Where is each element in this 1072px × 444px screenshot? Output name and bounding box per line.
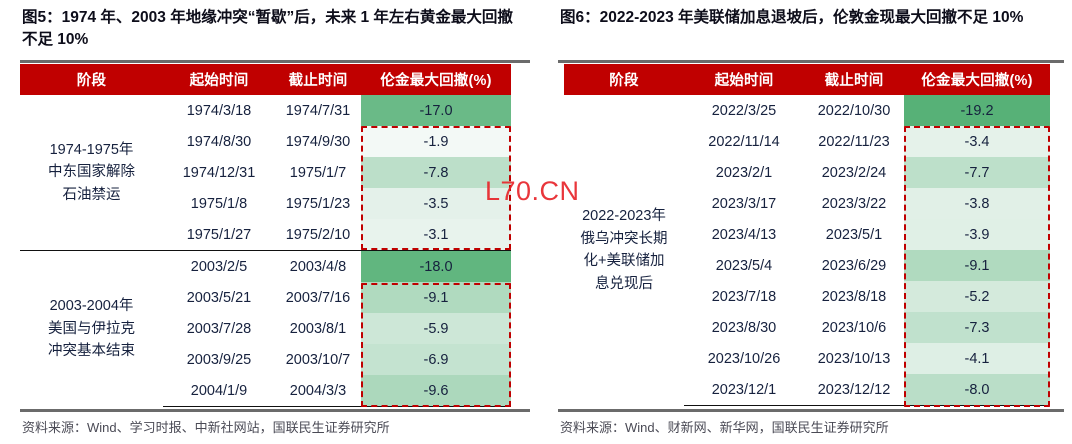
right-footer-rule <box>558 409 1064 412</box>
column-header-0: 阶段 <box>20 64 163 95</box>
drawdown-cell: -7.3 <box>904 312 1050 343</box>
left-footer-rule <box>20 409 530 412</box>
end-date-cell: 2003/10/7 <box>275 344 361 375</box>
stage-label: 1974-1975年中东国家解除石油禁运 <box>20 95 163 251</box>
right-source-note: 资料来源：Wind、财新网、新华网，国联民生证券研究所 <box>560 417 889 436</box>
start-date-cell: 1975/1/27 <box>163 219 275 251</box>
drawdown-cell: -19.2 <box>904 95 1050 126</box>
drawdown-cell: -7.7 <box>904 157 1050 188</box>
start-date-cell: 1975/1/8 <box>163 188 275 219</box>
end-date-cell: 2023/12/12 <box>804 374 904 406</box>
drawdown-cell: -18.0 <box>361 251 511 283</box>
end-date-cell: 2022/11/23 <box>804 126 904 157</box>
left-figure-panel: 图5：1974 年、2003 年地缘冲突“暂歇”后，未来 1 年左右黄金最大回撤… <box>0 0 536 444</box>
start-date-cell: 2023/2/1 <box>684 157 804 188</box>
column-header-3: 伦金最大回撤(%) <box>904 64 1050 95</box>
end-date-cell: 1975/1/7 <box>275 157 361 188</box>
left-figure-title: 图5：1974 年、2003 年地缘冲突“暂歇”后，未来 1 年左右黄金最大回撤… <box>22 7 522 52</box>
column-header-0: 阶段 <box>564 64 684 95</box>
table-header-row: 阶段起始时间截止时间伦金最大回撤(%) <box>20 64 511 95</box>
drawdown-cell: -3.9 <box>904 219 1050 250</box>
stage-label: 2022-2023年俄乌冲突长期化+美联储加息兑现后 <box>564 95 684 406</box>
drawdown-cell: -8.0 <box>904 374 1050 406</box>
end-date-cell: 1974/9/30 <box>275 126 361 157</box>
drawdown-cell: -5.9 <box>361 313 511 344</box>
end-date-cell: 2023/10/6 <box>804 312 904 343</box>
start-date-cell: 1974/3/18 <box>163 95 275 126</box>
start-date-cell: 2023/3/17 <box>684 188 804 219</box>
end-date-cell: 2023/10/13 <box>804 343 904 374</box>
end-date-cell: 1975/2/10 <box>275 219 361 251</box>
figure-pair-page: 图5：1974 年、2003 年地缘冲突“暂歇”后，未来 1 年左右黄金最大回撤… <box>0 0 1072 444</box>
start-date-cell: 2003/9/25 <box>163 344 275 375</box>
table-row: 2022-2023年俄乌冲突长期化+美联储加息兑现后2022/3/252022/… <box>564 95 1050 126</box>
right-drawdown-table: 阶段起始时间截止时间伦金最大回撤(%)2022-2023年俄乌冲突长期化+美联储… <box>564 64 1050 406</box>
start-date-cell: 2004/1/9 <box>163 375 275 407</box>
drawdown-cell: -6.9 <box>361 344 511 375</box>
drawdown-cell: -17.0 <box>361 95 511 126</box>
drawdown-cell: -3.8 <box>904 188 1050 219</box>
end-date-cell: 2023/8/18 <box>804 281 904 312</box>
column-header-2: 截止时间 <box>804 64 904 95</box>
column-header-3: 伦金最大回撤(%) <box>361 64 511 95</box>
start-date-cell: 2003/5/21 <box>163 282 275 313</box>
column-header-1: 起始时间 <box>684 64 804 95</box>
column-header-1: 起始时间 <box>163 64 275 95</box>
end-date-cell: 1975/1/23 <box>275 188 361 219</box>
start-date-cell: 2023/12/1 <box>684 374 804 406</box>
start-date-cell: 2023/8/30 <box>684 312 804 343</box>
end-date-cell: 2023/5/1 <box>804 219 904 250</box>
right-title-rule <box>558 60 1064 63</box>
end-date-cell: 2022/10/30 <box>804 95 904 126</box>
start-date-cell: 2003/2/5 <box>163 251 275 283</box>
drawdown-cell: -3.4 <box>904 126 1050 157</box>
right-figure-title: 图6：2022-2023 年美联储加息退坡后，伦敦金现最大回撤不足 10% <box>560 7 1060 29</box>
start-date-cell: 1974/8/30 <box>163 126 275 157</box>
column-header-2: 截止时间 <box>275 64 361 95</box>
right-figure-panel: 图6：2022-2023 年美联储加息退坡后，伦敦金现最大回撤不足 10% 阶段… <box>536 0 1072 444</box>
end-date-cell: 2003/7/16 <box>275 282 361 313</box>
drawdown-cell: -5.2 <box>904 281 1050 312</box>
table-header-row: 阶段起始时间截止时间伦金最大回撤(%) <box>564 64 1050 95</box>
end-date-cell: 2003/8/1 <box>275 313 361 344</box>
drawdown-cell: -4.1 <box>904 343 1050 374</box>
start-date-cell: 2022/11/14 <box>684 126 804 157</box>
start-date-cell: 2023/7/18 <box>684 281 804 312</box>
stage-label: 2003-2004年美国与伊拉克冲突基本结束 <box>20 251 163 407</box>
start-date-cell: 2022/3/25 <box>684 95 804 126</box>
table-row: 2003-2004年美国与伊拉克冲突基本结束2003/2/52003/4/8-1… <box>20 251 511 283</box>
drawdown-cell: -9.1 <box>361 282 511 313</box>
drawdown-cell: -9.1 <box>904 250 1050 281</box>
start-date-cell: 2023/4/13 <box>684 219 804 250</box>
left-title-rule <box>20 60 530 63</box>
start-date-cell: 2023/5/4 <box>684 250 804 281</box>
left-drawdown-table: 阶段起始时间截止时间伦金最大回撤(%)1974-1975年中东国家解除石油禁运1… <box>20 64 511 407</box>
watermark-text: L70.CN <box>485 176 580 207</box>
table-row: 1974-1975年中东国家解除石油禁运1974/3/181974/7/31-1… <box>20 95 511 126</box>
start-date-cell: 2003/7/28 <box>163 313 275 344</box>
start-date-cell: 1974/12/31 <box>163 157 275 188</box>
left-source-note: 资料来源：Wind、学习时报、中新社网站，国联民生证券研究所 <box>22 417 390 436</box>
end-date-cell: 2023/6/29 <box>804 250 904 281</box>
end-date-cell: 2004/3/3 <box>275 375 361 407</box>
end-date-cell: 2003/4/8 <box>275 251 361 283</box>
end-date-cell: 2023/2/24 <box>804 157 904 188</box>
drawdown-cell: -1.9 <box>361 126 511 157</box>
end-date-cell: 1974/7/31 <box>275 95 361 126</box>
drawdown-cell: -3.1 <box>361 219 511 251</box>
end-date-cell: 2023/3/22 <box>804 188 904 219</box>
start-date-cell: 2023/10/26 <box>684 343 804 374</box>
drawdown-cell: -9.6 <box>361 375 511 407</box>
